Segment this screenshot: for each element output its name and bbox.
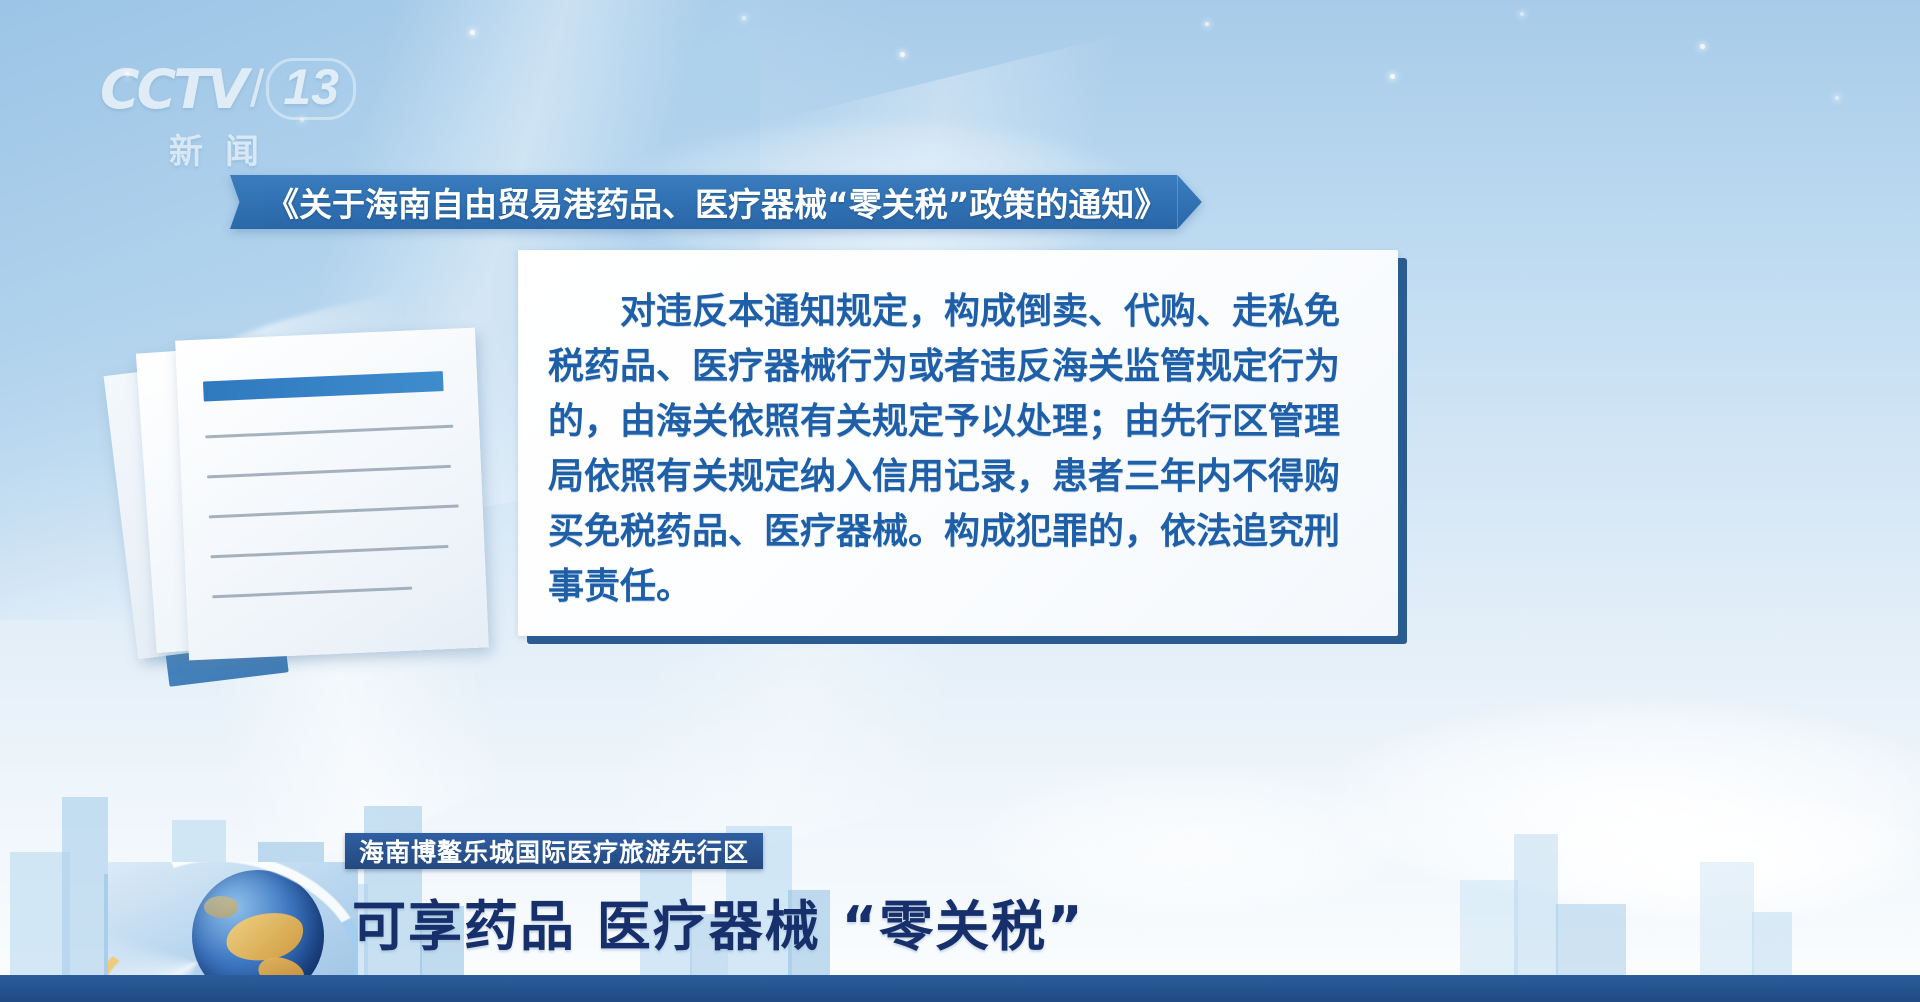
- banner-title-text: 《关于海南自由贸易港药品、医疗器械“零关税”政策的通知》: [266, 178, 1167, 226]
- banner-body: 《关于海南自由贸易港药品、医疗器械“零关税”政策的通知》: [264, 175, 1177, 229]
- broadcast-frame: CCTV / 13 新闻 《关于海南自由贸易港药品、医疗器械“零关税”政策的通知…: [0, 0, 1920, 1002]
- background-cloud: [1500, 790, 1920, 920]
- policy-title-banner: 《关于海南自由贸易港药品、医疗器械“零关税”政策的通知》: [230, 175, 1211, 229]
- bottom-blue-strip: [0, 975, 1920, 1002]
- policy-paragraph: 对违反本通知规定，构成倒卖、代购、走私免税药品、医疗器械行为或者违反海关监管规定…: [548, 284, 1370, 614]
- banner-left-arrow-cap: [230, 175, 264, 229]
- cctv-channel-logo: CCTV / 13 新闻: [100, 58, 400, 178]
- content-card-body: 对违反本通知规定，构成倒卖、代购、走私免税药品、医疗器械行为或者违反海关监管规定…: [518, 250, 1398, 614]
- content-card: 对违反本通知规定，构成倒卖、代购、走私免税药品、医疗器械行为或者违反海关监管规定…: [518, 250, 1398, 636]
- lower-third-subtitle-bar: 海南博鳌乐城国际医疗旅游先行区: [345, 833, 763, 869]
- lower-third-subtitle-text: 海南博鳌乐城国际医疗旅游先行区: [359, 833, 749, 869]
- cctv-channel-number: 13: [266, 58, 356, 120]
- cctv-wordmark: CCTV: [100, 58, 246, 121]
- document-illustration: [120, 330, 540, 660]
- document-sheet-front: [175, 328, 489, 661]
- cctv-channel-name-cn: 新闻: [100, 124, 350, 173]
- cctv-slash-divider: /: [250, 59, 264, 119]
- lower-third-headline: 可享药品 医疗器械 “零关税”: [352, 882, 1085, 961]
- document-heading-bar: [203, 371, 444, 401]
- banner-right-arrow-cap: [1177, 175, 1211, 229]
